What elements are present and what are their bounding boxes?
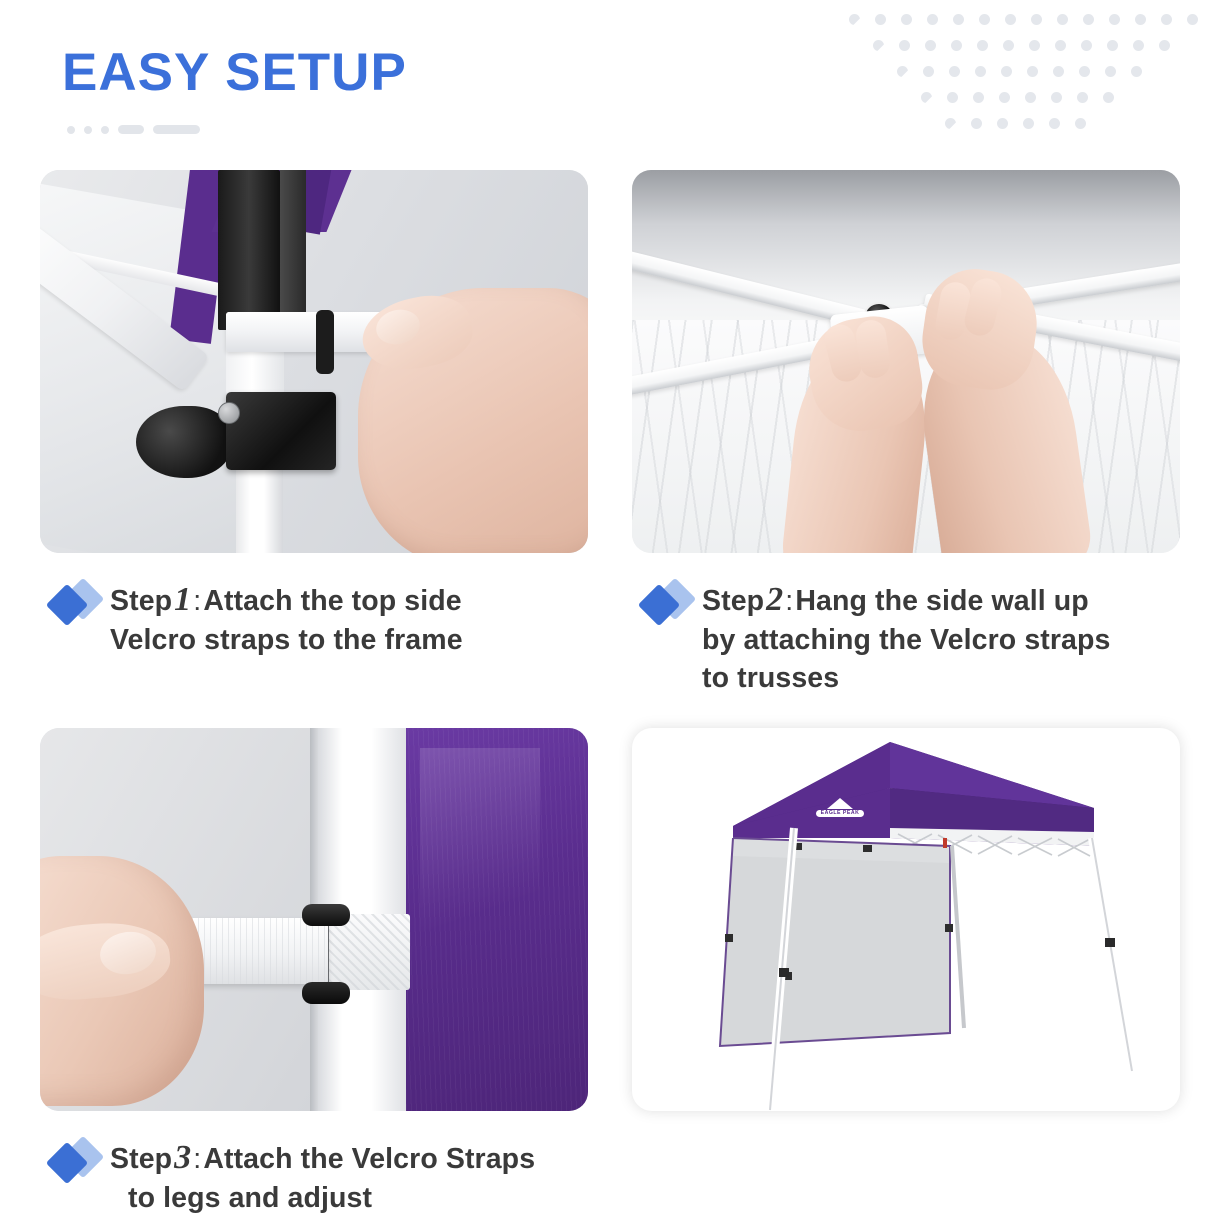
grid-dot-icon <box>1057 14 1068 25</box>
grid-dot-icon <box>875 14 886 25</box>
grid-dot-icon <box>1023 118 1034 129</box>
step-line-3: to trusses <box>702 662 839 694</box>
step-3-caption: Step3:Attach the Velcro Straps to legs a… <box>40 1133 588 1218</box>
grid-dot-icon <box>971 118 982 129</box>
grid-dot-icon <box>1051 92 1062 103</box>
steps-row-bottom: Step3:Attach the Velcro Straps to legs a… <box>40 728 1180 1218</box>
double-diamond-icon <box>640 581 702 625</box>
grid-dot-icon <box>1161 14 1172 25</box>
leg-adjust-clip <box>1105 938 1115 947</box>
step-line-1: Attach the Velcro Straps <box>203 1143 535 1175</box>
grid-dot-icon <box>925 40 936 51</box>
step-1-text: Step1:Attach the top side Velcro straps … <box>110 575 463 660</box>
title-underline-decoration <box>67 125 407 134</box>
grid-dot-icon <box>1187 14 1198 25</box>
grid-dot-icon <box>953 14 964 25</box>
leg-adjust-clip <box>779 968 789 977</box>
dot-grid-row <box>873 40 1174 51</box>
grid-dot-icon <box>973 92 984 103</box>
step-line-2: by attaching the Velcro straps <box>702 624 1110 656</box>
grid-dot-icon <box>1001 66 1012 77</box>
step-line-1: Hang the side wall up <box>795 585 1088 617</box>
step2-photo-hands-attaching-to-trusses <box>632 170 1180 553</box>
underline-short-dash-icon <box>118 125 144 134</box>
grid-dot-icon <box>849 14 860 25</box>
dot-grid-row <box>897 66 1150 77</box>
grid-dot-icon <box>1075 118 1086 129</box>
grid-dot-icon <box>997 118 1008 129</box>
grid-dot-icon <box>1003 40 1014 51</box>
decorative-dot-grid <box>849 14 1198 144</box>
step-2-caption: Step2:Hang the side wall up by attaching… <box>632 575 1180 698</box>
dot-grid-row <box>921 92 1126 103</box>
black-joint-knuckle <box>136 406 232 478</box>
fabric-highlight <box>420 748 540 1048</box>
step-label: Step <box>110 585 172 617</box>
step-1-cell: Step1:Attach the top side Velcro straps … <box>40 170 588 698</box>
grid-dot-icon <box>977 40 988 51</box>
grid-dot-icon <box>1083 14 1094 25</box>
step-line-2: Velcro straps to the frame <box>110 624 463 656</box>
step-line-2: to legs and adjust <box>110 1182 372 1214</box>
sidewall-velcro-tab <box>863 845 872 852</box>
grid-dot-icon <box>1027 66 1038 77</box>
steps-grid: Step1:Attach the top side Velcro straps … <box>40 170 1180 1218</box>
step-line-1: Attach the top side <box>203 585 461 617</box>
black-velcro-strip <box>218 170 280 330</box>
grid-dot-icon <box>899 40 910 51</box>
canopy-product-illustration <box>632 728 1180 1111</box>
metal-screw <box>218 402 240 424</box>
black-frame-hub <box>226 392 336 470</box>
step-number: 1 <box>172 581 193 618</box>
black-strap-buckle <box>316 310 334 374</box>
grid-dot-icon <box>1107 40 1118 51</box>
page-header: EASY SETUP <box>62 46 407 134</box>
grid-dot-icon <box>1159 40 1170 51</box>
black-velcro-strip-hook-side <box>280 170 306 318</box>
grid-dot-icon <box>1131 66 1142 77</box>
sidewall-fabric <box>720 838 950 1046</box>
canopy-leg-right-shade <box>1092 838 1132 1071</box>
grid-dot-icon <box>1053 66 1064 77</box>
step-label: Step <box>702 585 764 617</box>
grid-dot-icon <box>951 40 962 51</box>
step-number: 3 <box>172 1139 193 1176</box>
grid-dot-icon <box>897 66 908 77</box>
step-colon: : <box>785 585 795 617</box>
grid-dot-icon <box>999 92 1010 103</box>
underline-dot-icon <box>67 126 75 134</box>
page-title: EASY SETUP <box>62 46 407 99</box>
grid-dot-icon <box>1105 66 1116 77</box>
grid-dot-icon <box>945 118 956 129</box>
underline-dot-icon <box>101 126 109 134</box>
grid-dot-icon <box>1103 92 1114 103</box>
grid-dot-icon <box>1029 40 1040 51</box>
step-colon: : <box>193 1143 203 1175</box>
black-strap-buckle-top <box>302 904 350 926</box>
double-diamond-icon <box>48 1139 110 1183</box>
step3-photo-strap-through-buckle-on-leg <box>40 728 588 1111</box>
mountain-peak-icon <box>827 798 853 809</box>
grid-dot-icon <box>1133 40 1144 51</box>
sidewall-velcro-tab <box>725 934 733 942</box>
grid-dot-icon <box>921 92 932 103</box>
canopy-leg-back <box>952 846 964 1028</box>
grid-dot-icon <box>1031 14 1042 25</box>
grid-dot-icon <box>947 92 958 103</box>
step-1-caption: Step1:Attach the top side Velcro straps … <box>40 575 588 660</box>
brand-name: EAGLE PEAK <box>816 810 865 818</box>
grid-dot-icon <box>949 66 960 77</box>
step-2-cell: Step2:Hang the side wall up by attaching… <box>632 170 1180 698</box>
dot-grid-row <box>945 118 1102 129</box>
underline-dot-icon <box>84 126 92 134</box>
frame-accent <box>943 838 947 848</box>
step-3-text: Step3:Attach the Velcro Straps to legs a… <box>110 1133 535 1218</box>
grid-dot-icon <box>1135 14 1146 25</box>
eagle-peak-mountain-logo: EAGLE PEAK <box>813 795 867 820</box>
grid-dot-icon <box>979 14 990 25</box>
grid-dot-icon <box>1081 40 1092 51</box>
grid-dot-icon <box>873 40 884 51</box>
grid-dot-icon <box>1077 92 1088 103</box>
black-strap-buckle-bottom <box>302 982 350 1004</box>
grid-dot-icon <box>1005 14 1016 25</box>
grid-dot-icon <box>1055 40 1066 51</box>
step-3-cell: Step3:Attach the Velcro Straps to legs a… <box>40 728 588 1218</box>
double-diamond-icon <box>48 581 110 625</box>
step-label: Step <box>110 1143 172 1175</box>
grid-dot-icon <box>1109 14 1120 25</box>
grid-dot-icon <box>1049 118 1060 129</box>
steps-row-top: Step1:Attach the top side Velcro straps … <box>40 170 1180 698</box>
sidewall-velcro-tab <box>945 924 953 932</box>
grid-dot-icon <box>975 66 986 77</box>
grid-dot-icon <box>1079 66 1090 77</box>
grid-dot-icon <box>927 14 938 25</box>
grid-dot-icon <box>901 14 912 25</box>
step1-photo-velcro-strap-on-frame <box>40 170 588 553</box>
underline-long-dash-icon <box>153 125 200 134</box>
product-cell: EAGLE PEAK <box>632 728 1180 1218</box>
product-photo-card: EAGLE PEAK <box>632 728 1180 1111</box>
grid-dot-icon <box>1025 92 1036 103</box>
step-2-text: Step2:Hang the side wall up by attaching… <box>702 575 1110 698</box>
step-colon: : <box>193 585 203 617</box>
step-number: 2 <box>764 581 785 618</box>
dot-grid-row <box>849 14 1198 25</box>
grid-dot-icon <box>923 66 934 77</box>
